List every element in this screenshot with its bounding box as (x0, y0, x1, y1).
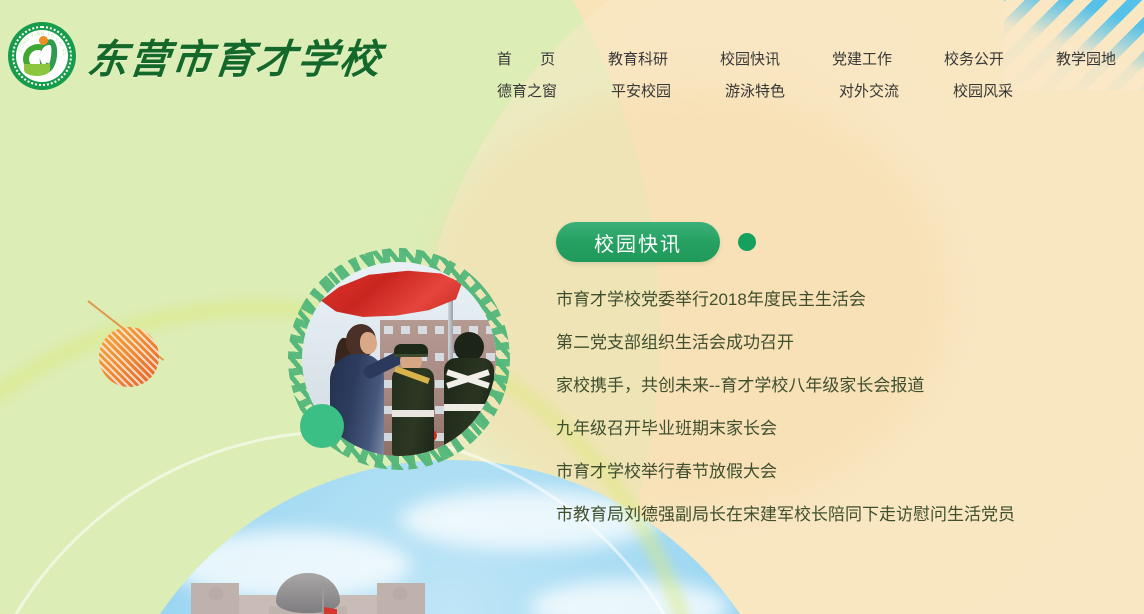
main-navigation: 首 页 教育科研 校园快讯 党建工作 校务公开 教学园地 德育之窗 平安校园 游… (470, 42, 1142, 106)
list-item[interactable]: 家校携手，共创未来--育才学校八年级家长会报道 (556, 364, 1116, 407)
section-title-pill[interactable]: 校园快讯 (556, 222, 720, 262)
page-root: DONG YING YU CAI SCHOOL 东营市育才学校 首 页 教育科研… (0, 0, 1144, 614)
brand-block[interactable]: DONG YING YU CAI SCHOOL 东营市育才学校 (8, 22, 382, 90)
nav-item-research[interactable]: 教育科研 (582, 48, 694, 69)
list-item[interactable]: 市育才学校党委举行2018年度民主生活会 (556, 278, 1116, 321)
campus-news-panel: 校园快讯 市育才学校党委举行2018年度民主生活会 第二党支部组织生活会成功召开… (556, 222, 1116, 536)
orange-dot-icon (39, 36, 48, 45)
nav-item-swimming[interactable]: 游泳特色 (698, 80, 812, 101)
list-item[interactable]: 市育才学校举行春节放假大会 (556, 450, 1116, 493)
nav-item-campuslife[interactable]: 校园风采 (926, 80, 1040, 101)
emblem-leaf-shape (24, 64, 50, 76)
nav-row-1: 首 页 教育科研 校园快讯 党建工作 校务公开 教学园地 (470, 42, 1142, 74)
green-circle-icon (300, 404, 344, 448)
green-dot-icon (738, 233, 756, 251)
list-item[interactable]: 市教育局刘德强副局长在宋建军校长陪同下走访慰问生活党员 (556, 493, 1116, 536)
news-list: 市育才学校党委举行2018年度民主生活会 第二党支部组织生活会成功召开 家校携手… (556, 278, 1116, 536)
nav-item-teaching[interactable]: 教学园地 (1030, 48, 1142, 69)
nav-item-disclosure[interactable]: 校务公开 (918, 48, 1030, 69)
nav-item-exchange[interactable]: 对外交流 (812, 80, 926, 101)
nav-item-home[interactable]: 首 页 (470, 48, 582, 69)
nav-item-safety[interactable]: 平安校园 (584, 80, 698, 101)
site-header: DONG YING YU CAI SCHOOL 东营市育才学校 首 页 教育科研… (0, 0, 1144, 120)
list-item[interactable]: 九年级召开毕业班期末家长会 (556, 407, 1116, 450)
nav-item-party[interactable]: 党建工作 (806, 48, 918, 69)
nav-item-news[interactable]: 校园快讯 (694, 48, 806, 69)
list-item[interactable]: 第二党支部组织生活会成功召开 (556, 321, 1116, 364)
panel-header: 校园快讯 (556, 222, 1116, 266)
orange-striped-circle-icon (99, 327, 159, 387)
nav-item-moral[interactable]: 德育之窗 (470, 80, 584, 101)
page-title: 东营市育才学校 (85, 27, 385, 85)
emblem-inner-disc (16, 30, 68, 82)
school-emblem-circle-icon[interactable]: DONG YING YU CAI SCHOOL (8, 22, 76, 90)
nav-row-2: 德育之窗 平安校园 游泳特色 对外交流 校园风采 (470, 74, 1142, 106)
